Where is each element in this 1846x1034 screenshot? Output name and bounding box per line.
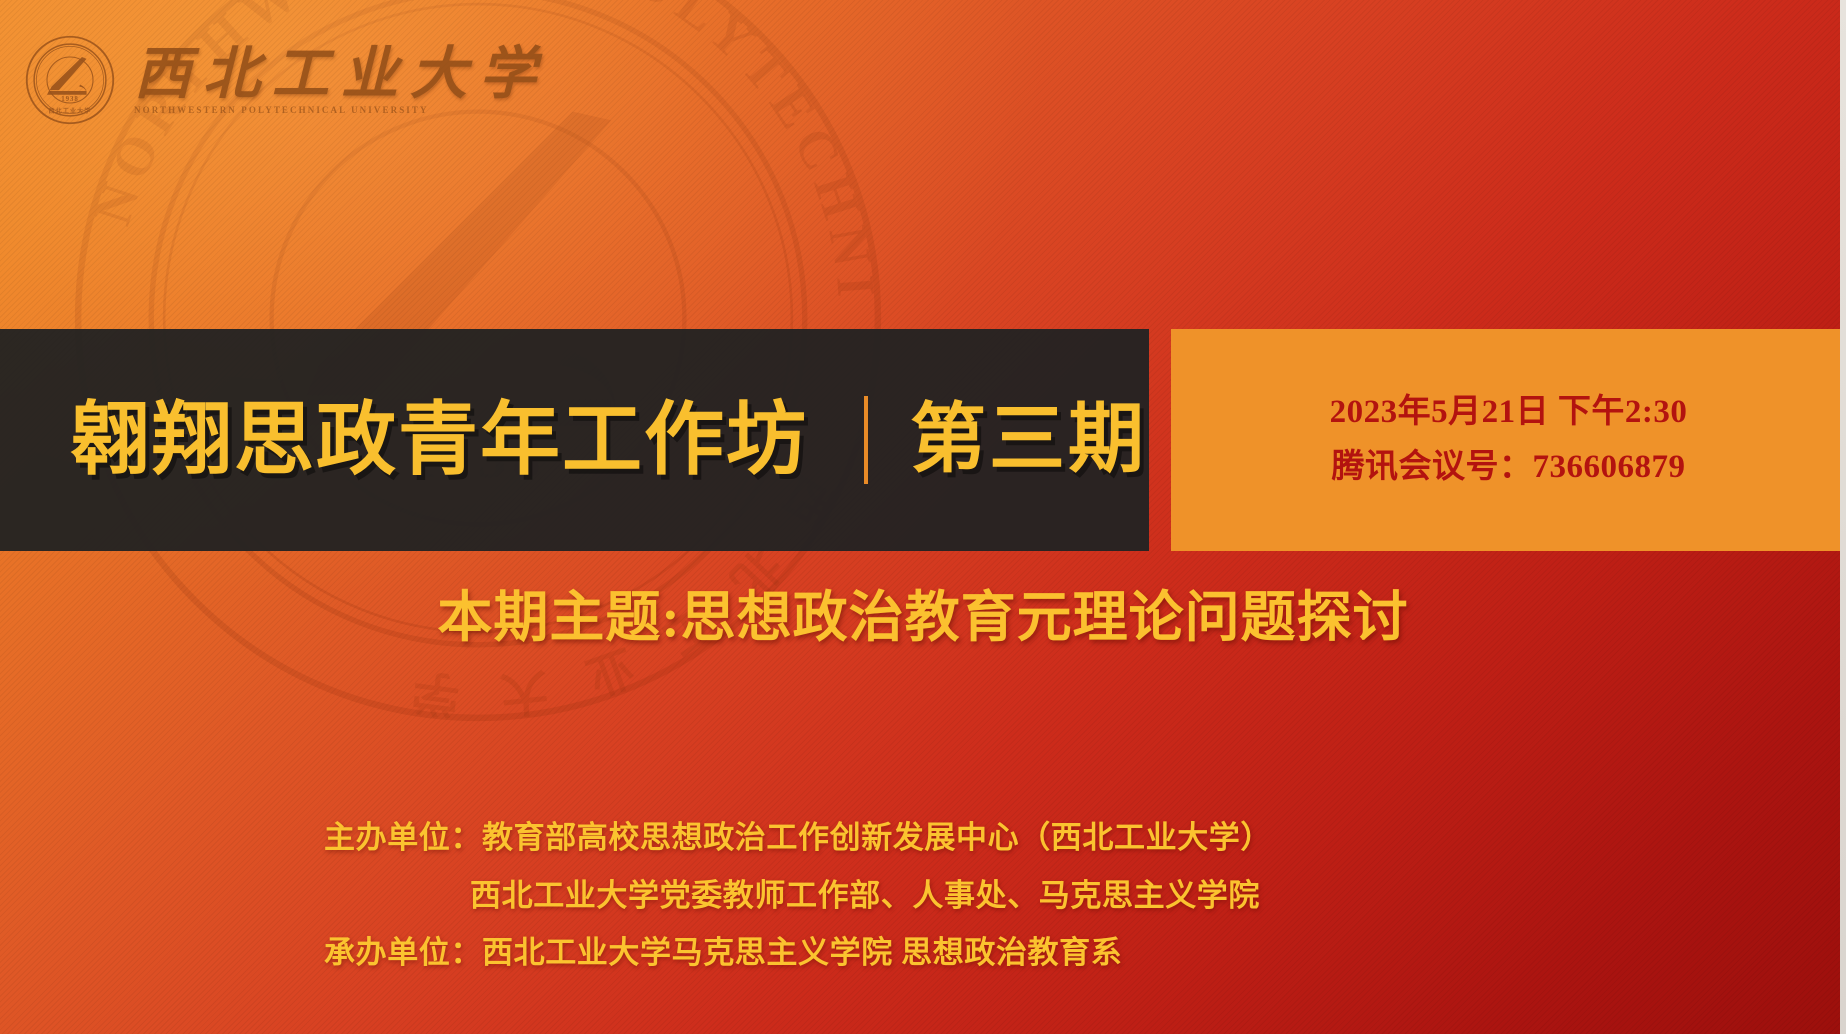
page-right-edge <box>1840 0 1846 1034</box>
title-banner: 翱翔思政青年工作坊 第三期 <box>0 329 1149 551</box>
poster-canvas: NORTHWESTERN POLYTECHNICAL UNIVERSITY 西 … <box>0 0 1846 1034</box>
organizer-line: 承办单位：西北工业大学马克思主义学院 思想政治教育系 <box>0 935 1846 971</box>
organizers: 主办单位：教育部高校思想政治工作创新发展中心（西北工业大学） 西北工业大学党委教… <box>0 820 1846 971</box>
title-banner-inner: 翱翔思政青年工作坊 第三期 <box>0 396 1149 484</box>
info-card: 2023年5月21日 下午2:30 腾讯会议号：736606879 <box>1171 329 1846 551</box>
session-theme: 本期主题:思想政治教育元理论问题探讨 <box>0 588 1846 649</box>
svg-text:1938: 1938 <box>61 96 78 103</box>
wordmark-en: NORTHWESTERN POLYTECHNICAL UNIVERSITY <box>134 105 548 115</box>
page-title: 翱翔思政青年工作坊 <box>70 400 808 480</box>
organizer-line: 主办单位：教育部高校思想政治工作创新发展中心（西北工业大学） <box>0 820 1846 856</box>
wordmark: 西北工业大学 NORTHWESTERN POLYTECHNICAL UNIVER… <box>134 46 548 115</box>
vertical-divider <box>864 396 868 484</box>
organizer-line: 西北工业大学党委教师工作部、人事处、马克思主义学院 <box>0 878 1846 914</box>
wordmark-cn: 西北工业大学 <box>134 46 548 103</box>
masthead: 1938 西北工业大学 西北工业大学 NORTHWESTERN POLYTECH… <box>24 34 548 126</box>
issue-label: 第三期 <box>910 402 1147 478</box>
svg-text:西北工业大学: 西北工业大学 <box>49 107 92 115</box>
university-seal-icon: 1938 西北工业大学 <box>24 34 116 126</box>
meeting-number: 腾讯会议号：736606879 <box>1332 451 1686 484</box>
event-datetime: 2023年5月21日 下午2:30 <box>1330 396 1688 429</box>
